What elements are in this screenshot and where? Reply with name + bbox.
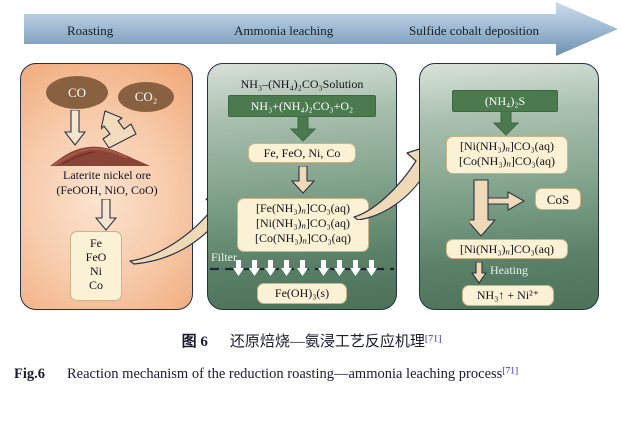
arrow-feed-to-complexes [291,166,315,194]
node-final-product: NH₃↑ + Ni²⁺ [462,285,554,306]
arrow-co-to-ore [64,110,86,146]
node-cos-product: CoS [535,188,581,210]
arrow-sulfide-to-feed [493,111,519,136]
caption-en-reference: [71] [502,366,518,377]
node-nickel-ammine-intermediate: [Ni(NH₃)n]CO₃(aq) [446,239,568,259]
filter-membrane-line [207,258,397,280]
caption-chinese: 图 6还原焙烧—氨浸工艺反应机理[71] [0,330,623,351]
node-co-gas: CO [46,76,108,109]
caption-cn-text: 还原焙烧—氨浸工艺反应机理 [230,334,425,350]
caption-en-text: Reaction mechanism of the reduction roas… [67,366,502,382]
figure-root: Roasting Ammonia leaching Sulfide cobalt… [0,0,623,430]
node-co2-gas: CO₂ [118,82,174,112]
stage-label-ammonia-leaching: Ammonia leaching [234,23,333,39]
arrow-heating [471,262,487,284]
feed-line-ni: [Ni(NH₃)n]CO₃(aq) [447,139,567,154]
feed-line-co: [Co(NH₃)n]CO₃(aq) [447,154,567,169]
metal-line-fe: Fe [71,236,121,250]
stage-label-sulfide-cobalt-deposition: Sulfide cobalt deposition [409,23,539,39]
complex-line-co: [Co(NH₃)n]CO₃(aq) [238,231,368,246]
complex-line-ni: [Ni(NH₃)n]CO₃(aq) [238,216,368,231]
stage-label-roasting: Roasting [67,23,113,39]
arrow-reagents-to-feed [290,116,316,142]
metal-line-feo: FeO [71,250,121,264]
node-leach-complexes: [Fe(NH₃)n]CO₃(aq) [Ni(NH₃)n]CO₃(aq) [Co(… [237,198,369,252]
arrow-ore-to-metals [95,199,117,231]
caption-en-prefix: Fig.6 [14,366,45,382]
leach-solution-title: NH₃–(NH₄)₂CO₃Solution [207,77,397,92]
caption-cn-prefix: 图 6 [182,334,208,350]
node-leach-reagents: NH₃+(NH₄)₂CO₃+O₂ [228,95,376,117]
metal-line-ni: Ni [71,264,121,278]
metal-line-co: Co [71,278,121,292]
complex-line-fe: [Fe(NH₃)n]CO₃(aq) [238,201,368,216]
heating-label: Heating [490,263,528,278]
node-reduced-metals: Fe FeO Ni Co [70,231,122,301]
caption-cn-reference: [71] [425,334,441,345]
node-ammonium-sulfide: (NH₄)₂S [452,90,558,112]
node-deposition-feed: [Ni(NH₃)n]CO₃(aq) [Co(NH₃)n]CO₃(aq) [446,136,568,174]
node-leach-feed: Fe, FeO, Ni, Co [248,143,356,163]
node-iron-hydroxide-residue: Fe(OH)₃(s) [257,283,347,304]
process-stage-banner: Roasting Ammonia leaching Sulfide cobalt… [0,0,623,58]
caption-english: Fig.6Reaction mechanism of the reduction… [14,364,610,386]
